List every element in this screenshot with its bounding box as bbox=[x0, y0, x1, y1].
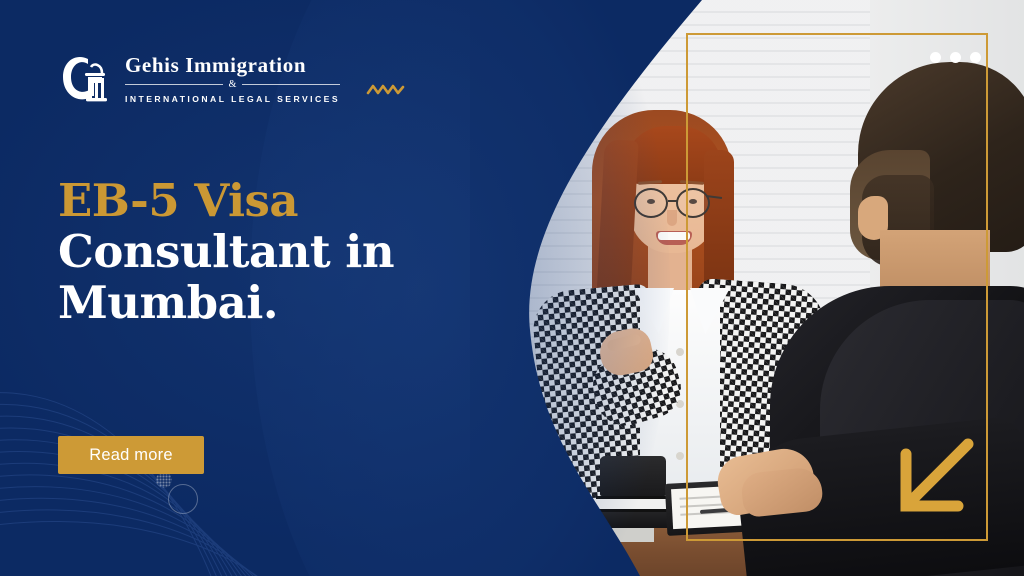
dot-2 bbox=[950, 52, 961, 63]
gold-zigzag-squiggle-icon bbox=[366, 82, 406, 98]
brand-ampersand: & bbox=[229, 80, 237, 90]
dot-3 bbox=[970, 52, 981, 63]
page-title: EB-5 Visa Consultant in Mumbai. bbox=[58, 176, 488, 329]
gehis-pillar-g-logo-icon bbox=[58, 50, 114, 108]
dot-1 bbox=[930, 52, 941, 63]
headline-line-1: EB-5 Visa bbox=[58, 176, 488, 227]
divider-line-left bbox=[125, 84, 223, 85]
brand-name: Gehis Immigration bbox=[125, 54, 340, 76]
headline-line-3: Mumbai. bbox=[58, 278, 488, 329]
brand-divider: & bbox=[125, 80, 340, 90]
headline-line-2: Consultant in bbox=[58, 227, 488, 278]
brand-tagline: INTERNATIONAL LEGAL SERVICES bbox=[125, 94, 340, 104]
three-white-dots bbox=[930, 52, 981, 63]
arrow-down-left-icon[interactable] bbox=[884, 432, 980, 528]
divider-line-right bbox=[242, 84, 340, 85]
read-more-button[interactable]: Read more bbox=[58, 436, 204, 474]
hero-banner: Gehis Immigration & INTERNATIONAL LEGAL … bbox=[0, 0, 1024, 576]
brand-logo[interactable]: Gehis Immigration & INTERNATIONAL LEGAL … bbox=[58, 50, 340, 108]
